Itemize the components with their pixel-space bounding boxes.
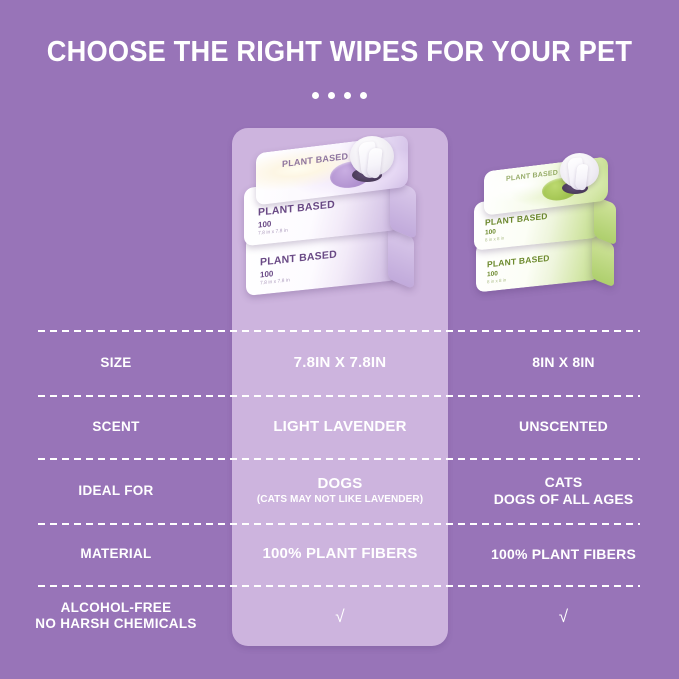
value-note: (CATS MAY NOT LIKE LAVENDER) xyxy=(232,494,448,506)
table-row: SCENT LIGHT LAVENDER UNSCENTED xyxy=(0,395,679,458)
infographic-root: CHOOSE THE RIGHT WIPES FOR YOUR PET PLAN… xyxy=(0,0,679,679)
label-line-2: NO HARSH CHEMICALS xyxy=(35,616,196,631)
value-main: DOGS xyxy=(318,475,363,492)
row-value-lavender-alcohol-free: √ xyxy=(232,608,448,625)
table-row: IDEAL FOR DOGS (CATS MAY NOT LIKE LAVEND… xyxy=(0,458,679,523)
value-note: DOGS OF ALL AGES xyxy=(448,491,679,508)
table-row: ALCOHOL-FREE NO HARSH CHEMICALS √ √ xyxy=(0,585,679,647)
pack-count-text: 100 xyxy=(260,269,273,279)
row-separator xyxy=(38,585,640,587)
row-value-lavender-scent: LIGHT LAVENDER xyxy=(232,418,448,436)
page-title: CHOOSE THE RIGHT WIPES FOR YOUR PET xyxy=(15,38,663,67)
divider-dot xyxy=(344,92,351,99)
row-label-ideal-for: IDEAL FOR xyxy=(0,483,232,499)
row-separator xyxy=(38,330,640,332)
row-value-lavender-size: 7.8IN X 7.8IN xyxy=(232,354,448,372)
divider-dot xyxy=(328,92,335,99)
green-wipe-dispenser xyxy=(550,150,608,204)
row-separator xyxy=(38,458,640,460)
divider-dot xyxy=(312,92,319,99)
table-row: MATERIAL 100% PLANT FIBERS 100% PLANT FI… xyxy=(0,523,679,585)
lavender-wipe-dispenser xyxy=(338,132,404,194)
row-value-lavender-material: 100% PLANT FIBERS xyxy=(232,545,448,563)
pack-count-text: 100 xyxy=(487,270,498,278)
row-separator xyxy=(38,523,640,525)
row-value-unscented-scent: UNSCENTED xyxy=(448,418,679,435)
row-value-unscented-size: 8IN X 8IN xyxy=(448,354,679,371)
row-value-unscented-material: 100% PLANT FIBERS xyxy=(448,546,679,563)
row-separator xyxy=(38,395,640,397)
label-line-1: ALCOHOL-FREE xyxy=(61,600,172,615)
title-dot-divider xyxy=(0,92,679,99)
row-value-unscented-alcohol-free: √ xyxy=(448,608,679,625)
table-row: SIZE 7.8IN X 7.8IN 8IN X 8IN xyxy=(0,330,679,395)
pack-count-text: 100 xyxy=(258,219,271,229)
row-label-alcohol-free: ALCOHOL-FREE NO HARSH CHEMICALS xyxy=(0,600,232,632)
value-main: CATS xyxy=(545,474,583,490)
lavender-product-image: PLANT BASED 100 7.8 in x 7.8 in PLANT BA… xyxy=(238,132,443,317)
comparison-table: SIZE 7.8IN X 7.8IN 8IN X 8IN SCENT LIGHT… xyxy=(0,330,679,647)
pack-count-text: 100 xyxy=(485,228,496,236)
row-label-scent: SCENT xyxy=(0,419,232,435)
row-value-lavender-ideal-for: DOGS (CATS MAY NOT LIKE LAVENDER) xyxy=(232,475,448,505)
row-label-material: MATERIAL xyxy=(0,546,232,562)
divider-dot xyxy=(360,92,367,99)
unscented-product-image: PLANT BASED 100 8 in x 8 in PLANT BASED … xyxy=(470,150,635,310)
row-label-size: SIZE xyxy=(0,355,232,371)
row-value-unscented-ideal-for: CATS DOGS OF ALL AGES xyxy=(448,474,679,507)
